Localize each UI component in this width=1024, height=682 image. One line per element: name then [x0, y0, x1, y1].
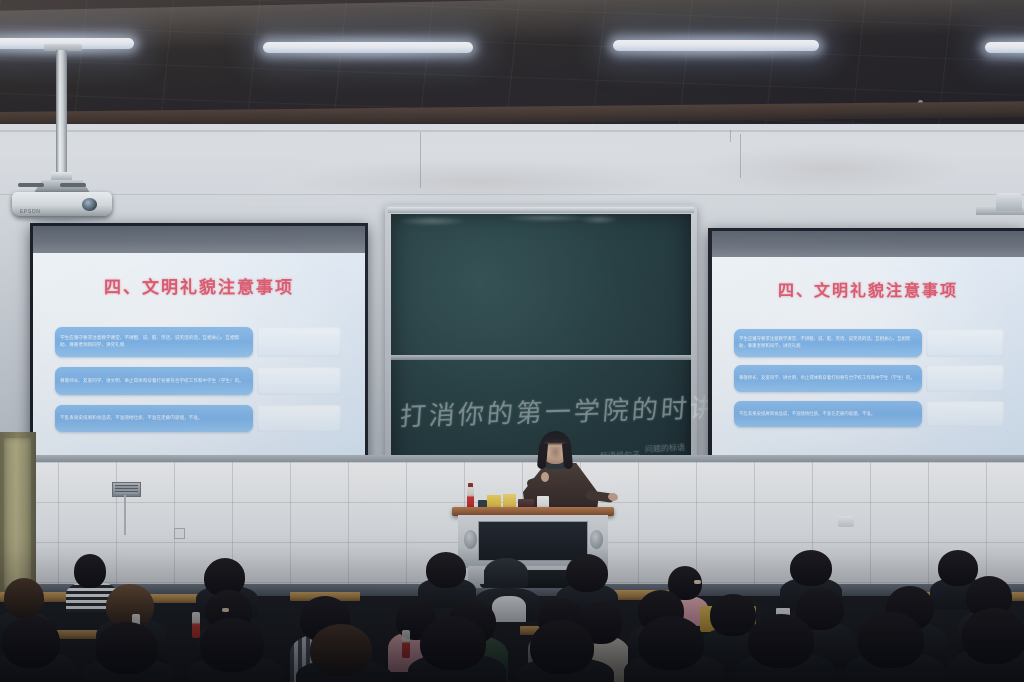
projector-mount-pole — [56, 50, 67, 176]
wall-speaker — [838, 516, 854, 527]
slide-bullet-box: 不乱丢果皮纸屑和食品袋，不准随地吐痰，不准在走廊内吸烟，不准。 — [734, 401, 922, 427]
lectern-speaker-grille — [590, 530, 603, 549]
slide-title: 四、文明礼貌注意事项 — [33, 273, 365, 298]
projector-lens-icon — [82, 198, 97, 211]
student-head — [566, 554, 608, 592]
slide-bullet-tail — [926, 365, 1004, 392]
student-head — [710, 594, 756, 636]
slide-bullet-row: 学生应遵守要求注意教学课堂、不讲粗、说、脏、笑话、说笑话的话，互相关心、互相帮助… — [55, 327, 345, 357]
chalk-dust — [397, 216, 467, 226]
student-head — [790, 550, 832, 586]
projector-mount-arm — [60, 183, 86, 187]
slide-bullet-tail — [257, 367, 341, 395]
lecture-hall-photo: EPSON 打消你的第一学院的时讲 标语组句子 问题的标语 四、文明礼貌注意事项… — [0, 0, 1024, 682]
audience-area — [0, 548, 1024, 682]
slide-bullet-box: 尊敬师长、友爱同学、讲文明、举止得体和穿着打扮要符合学校工作和中学生（学生）的。 — [55, 367, 253, 395]
student-head — [638, 616, 704, 670]
screen-top-band-right — [712, 231, 1024, 257]
slide-bullet-tail — [926, 401, 1004, 427]
student-head — [938, 550, 978, 586]
slide-left: 四、文明礼貌注意事项 学生应遵守要求注意教学课堂、不讲粗、说、脏、笑话、说笑话的… — [33, 253, 365, 474]
presenter-left-hand — [541, 472, 549, 482]
student-head — [4, 578, 44, 618]
fluorescent-tube-light — [263, 42, 473, 53]
student-head — [426, 552, 466, 588]
slide-bullet-box: 尊敬师长、友爱同学、讲文明、举止得体和穿着打扮要符合学校工作和中学生（学生）的。 — [734, 365, 922, 392]
slide-bullet-tail — [926, 329, 1004, 357]
wall-seam — [0, 130, 1024, 132]
student-head — [200, 618, 264, 672]
hair-tie — [222, 608, 229, 612]
chalk-dust — [579, 215, 619, 224]
ceiling-projector: EPSON — [8, 44, 120, 219]
student-head — [96, 622, 158, 674]
cap-brim — [480, 584, 520, 588]
slide-bullet-box: 学生应遵守要求注意教学课堂、不讲粗、说、脏、笑话、说笑话的话，互相关心、互相帮助… — [734, 329, 922, 357]
blackboard-panel-divider — [391, 355, 691, 360]
student-shirt — [492, 596, 526, 622]
blackboard-top-rail — [388, 207, 694, 213]
slide-bullet-row: 不乱丢果皮纸屑和食品袋，不准随地吐痰，不准在走廊内吸烟，不准。 — [734, 401, 1010, 427]
student-head — [962, 608, 1024, 664]
fluorescent-tube-light — [985, 42, 1024, 53]
wall-outlet[interactable] — [174, 528, 185, 539]
student-head — [530, 620, 594, 674]
slide-right: 四、文明礼貌注意事项 学生应遵守要求注意教学课堂、不讲粗、说、脏、笑话、说笑话的… — [712, 257, 1024, 468]
wall-crack — [730, 130, 731, 142]
student-head — [2, 616, 60, 668]
wall-smudge — [290, 160, 670, 202]
water-bottle-on-lectern[interactable] — [467, 487, 474, 509]
student-head — [74, 554, 106, 588]
blackboard-handwriting-note: 问题的标语 — [645, 442, 686, 455]
wall-chair-rail — [0, 455, 1024, 462]
student-head — [420, 616, 486, 670]
fluorescent-tube-light — [613, 40, 819, 51]
slide-bullet-text: 不乱丢果皮纸屑和食品袋，不准随地吐痰，不准在走廊内吸烟，不准。 — [734, 411, 880, 418]
slide-bullet-box: 不乱丢果皮纸屑和食品袋，不准随地吐痰，不准在走廊内吸烟，不准。 — [55, 405, 253, 432]
slide-bullet-text: 不乱丢果皮纸屑和食品袋，不准随地吐痰，不准在走廊内吸烟，不准。 — [55, 415, 207, 422]
ceiling — [0, 0, 1024, 128]
wall-conduit — [124, 495, 126, 535]
slide-title: 四、文明礼貌注意事项 — [712, 277, 1024, 301]
projector-pole-collar — [51, 172, 72, 181]
water-bottle[interactable] — [192, 612, 200, 638]
lectern-speaker-grille — [464, 530, 477, 549]
wall-mounted-device[interactable] — [996, 193, 1022, 211]
wall-crack — [740, 134, 741, 178]
slide-bullet-row: 尊敬师长、友爱同学、讲文明、举止得体和穿着打扮要符合学校工作和中学生（学生）的。 — [734, 365, 1010, 392]
chalk-dust — [501, 214, 591, 222]
slide-bullet-text: 尊敬师长、友爱同学、讲文明、举止得体和穿着打扮要符合学校工作和中学生（学生）的。 — [55, 378, 249, 385]
slide-bullet-text: 学生应遵守要求注意教学课堂、不讲粗、说、脏、笑话、说笑话的话，互相关心、互相帮助… — [734, 336, 922, 349]
presenter-face-shading — [548, 447, 563, 459]
student-head — [748, 614, 814, 668]
slide-bullet-row: 学生应遵守要求注意教学课堂、不讲粗、说、脏、笑话、说笑话的话，互相关心、互相帮助… — [734, 329, 1010, 357]
water-bottle[interactable] — [402, 630, 410, 658]
hair-tie — [694, 580, 701, 584]
screen-top-band-left — [33, 226, 365, 253]
slide-bullet-row: 不乱丢果皮纸屑和食品袋，不准随地吐痰，不准在走廊内吸烟，不准。 — [55, 405, 345, 432]
student-head — [310, 624, 372, 676]
student-head — [858, 612, 924, 668]
slide-bullet-box: 学生应遵守要求注意教学课堂、不讲粗、说、脏、笑话、说笑话的话，互相关心、互相帮助… — [55, 327, 253, 357]
wall-mounted-control-box[interactable] — [112, 482, 141, 497]
projector-mount-arm — [18, 183, 44, 187]
slide-bullet-tail — [257, 405, 341, 432]
control-box-grill-icon — [115, 485, 138, 494]
wall-crack — [420, 132, 421, 188]
wall-smudge — [700, 144, 960, 194]
slide-bullet-tail — [257, 327, 341, 357]
slide-bullet-text: 尊敬师长、友爱同学、讲文明、举止得体和穿着打扮要符合学校工作和中学生（学生）的。 — [734, 375, 920, 382]
slide-bullet-row: 尊敬师长、友爱同学、讲文明、举止得体和穿着打扮要符合学校工作和中学生（学生）的。 — [55, 367, 345, 395]
slide-bullet-text: 学生应遵守要求注意教学课堂、不讲粗、说、脏、笑话、说笑话的话，互相关心、互相帮助… — [55, 335, 253, 349]
